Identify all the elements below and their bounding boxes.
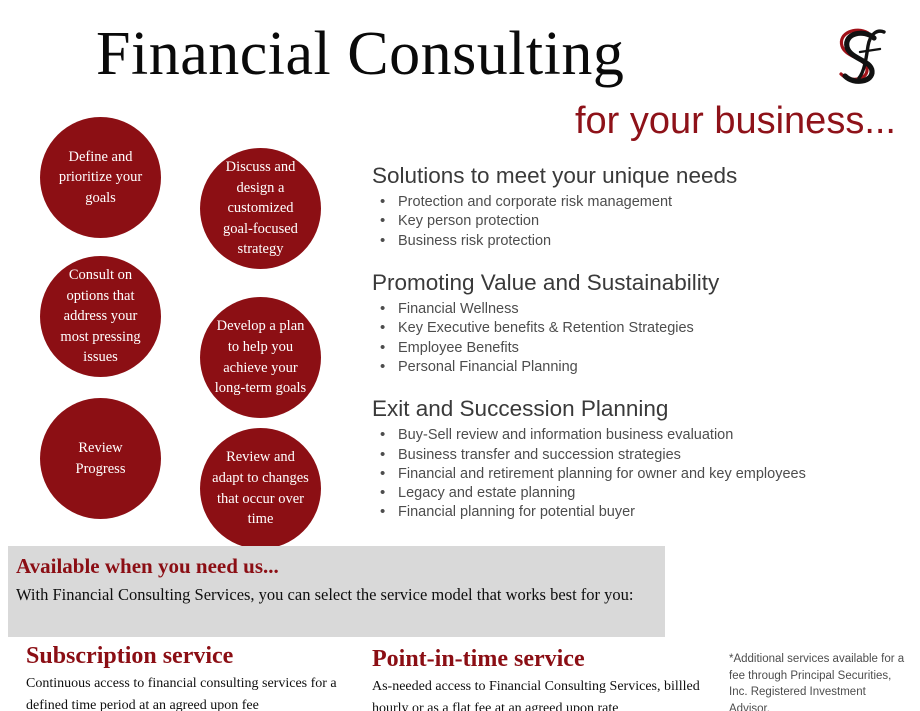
list-item: Protection and corporate risk management	[372, 193, 912, 212]
process-circle-review-and-adapt: Review and adapt to changes that occur o…	[200, 428, 321, 549]
service-model-subscription: Subscription service Continuous access t…	[26, 643, 366, 711]
section-heading: Promoting Value and Sustainability	[372, 269, 912, 297]
service-model-title: Point-in-time service	[372, 646, 717, 674]
availability-panel-title: Available when you need us...	[16, 554, 651, 579]
list-item: Key person protection	[372, 212, 912, 231]
section-bullet-list: Buy-Sell review and information business…	[372, 426, 912, 522]
process-circle-label: Review Progress	[52, 438, 149, 479]
disclaimer-text: *Additional services available for a fee…	[729, 651, 909, 711]
list-item: Financial Wellness	[372, 300, 912, 319]
availability-panel: Available when you need us... With Finan…	[8, 546, 665, 637]
section-bullet-list: Financial Wellness Key Executive benefit…	[372, 300, 912, 377]
list-item: Legacy and estate planning	[372, 484, 912, 503]
list-item: Financial and retirement planning for ow…	[372, 465, 912, 484]
list-item: Employee Benefits	[372, 339, 912, 358]
process-circle-define-prioritize-goals: Define and prioritize your goals	[40, 117, 161, 238]
page-subtitle: for your business...	[575, 101, 896, 143]
list-item: Business transfer and succession strateg…	[372, 446, 912, 465]
process-circle-label: Consult on options that address your mos…	[52, 265, 149, 368]
list-item: Business risk protection	[372, 232, 912, 251]
list-item: Key Executive benefits & Retention Strat…	[372, 319, 912, 338]
process-circle-review-progress: Review Progress	[40, 398, 161, 519]
section-heading: Exit and Succession Planning	[372, 395, 912, 423]
section-heading: Solutions to meet your unique needs	[372, 162, 912, 190]
process-circle-discuss-design-strategy: Discuss and design a customized goal-foc…	[200, 148, 321, 269]
service-model-point-in-time: Point-in-time service As-needed access t…	[372, 646, 717, 711]
sf-monogram-logo-icon	[822, 24, 900, 86]
section-bullet-list: Protection and corporate risk management…	[372, 193, 912, 251]
availability-panel-text: With Financial Consulting Services, you …	[16, 582, 646, 608]
financial-consulting-flyer: Financial Consulting for your business..…	[0, 0, 920, 711]
section-promoting-value: Promoting Value and Sustainability Finan…	[372, 269, 912, 377]
process-circle-label: Discuss and design a customized goal-foc…	[212, 157, 309, 260]
service-model-description: As-needed access to Financial Consulting…	[372, 676, 717, 711]
list-item: Financial planning for potential buyer	[372, 503, 912, 522]
service-model-description: Continuous access to financial consultin…	[26, 673, 366, 711]
section-solutions: Solutions to meet your unique needs Prot…	[372, 162, 912, 251]
list-item: Buy-Sell review and information business…	[372, 426, 912, 445]
process-circle-label: Review and adapt to changes that occur o…	[212, 447, 309, 529]
section-exit-succession: Exit and Succession Planning Buy-Sell re…	[372, 395, 912, 523]
process-circle-label: Define and prioritize your goals	[52, 147, 149, 209]
service-model-title: Subscription service	[26, 643, 366, 671]
list-item: Personal Financial Planning	[372, 358, 912, 377]
process-circles-group: Define and prioritize your goals Discuss…	[0, 0, 360, 540]
process-circle-consult-on-options: Consult on options that address your mos…	[40, 256, 161, 377]
process-circle-label: Develop a plan to help you achieve your …	[212, 316, 309, 398]
service-sections: Solutions to meet your unique needs Prot…	[372, 162, 912, 541]
process-circle-develop-a-plan: Develop a plan to help you achieve your …	[200, 297, 321, 418]
